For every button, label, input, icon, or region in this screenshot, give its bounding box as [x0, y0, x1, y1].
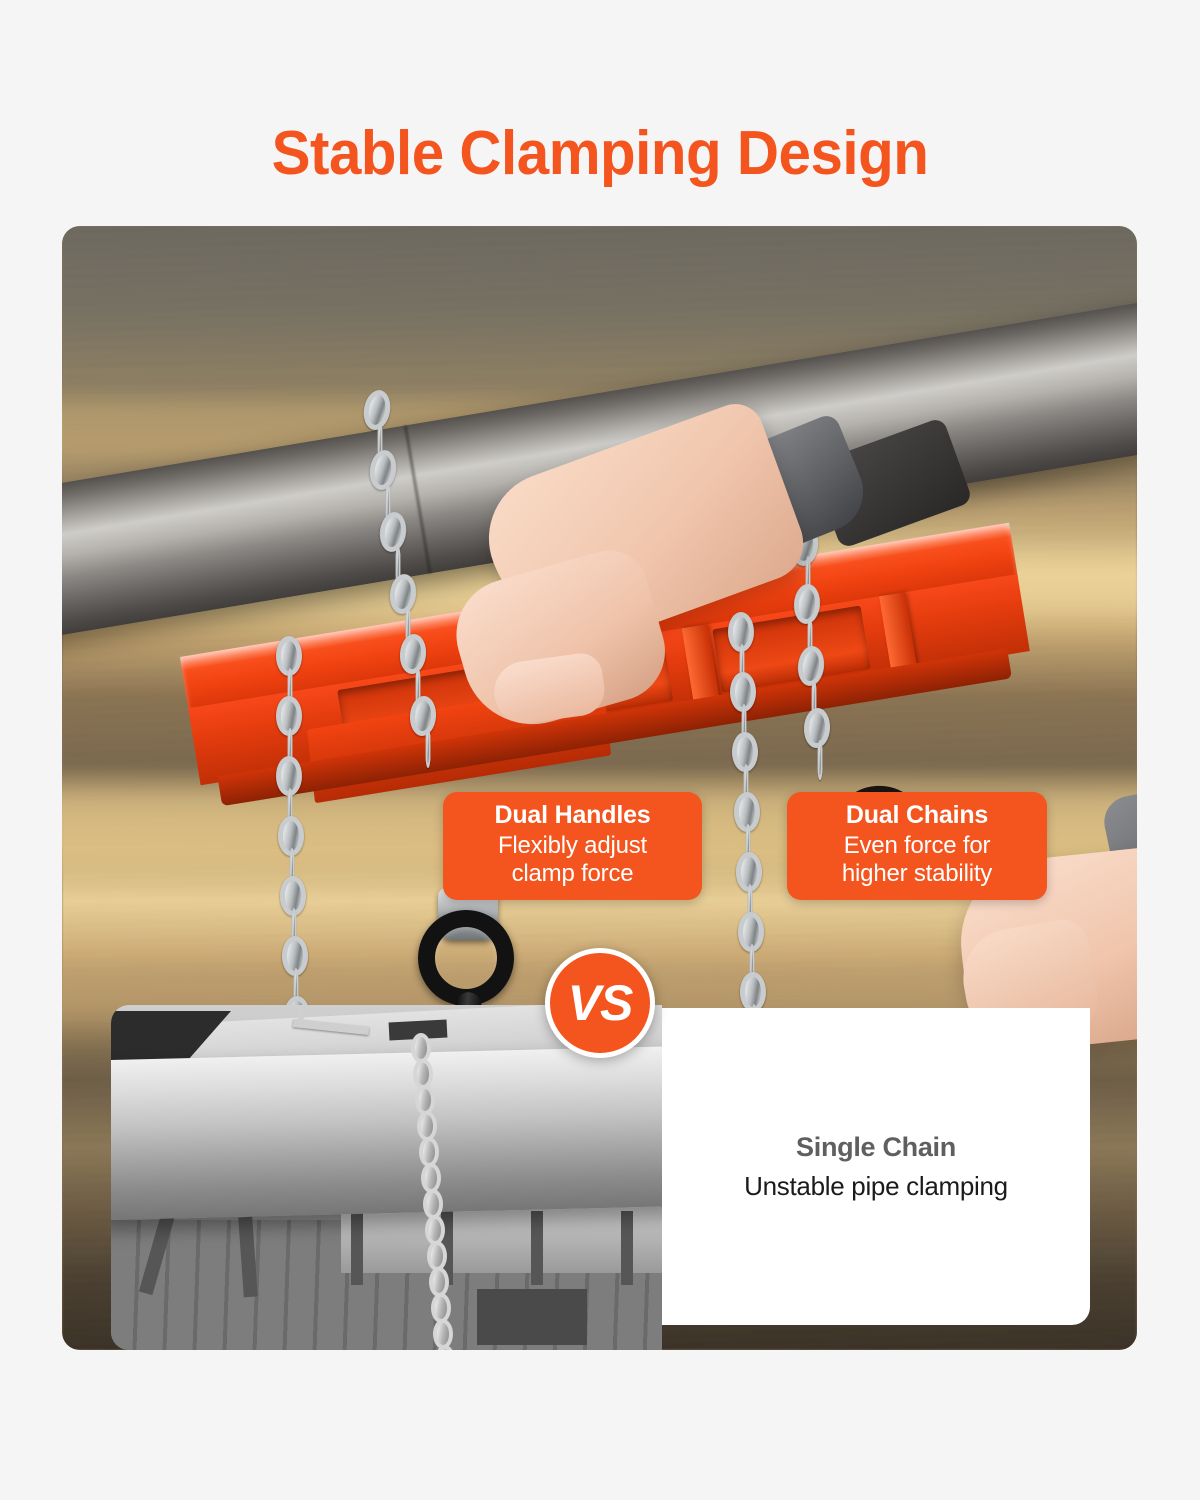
inset-bench-leg — [621, 1211, 633, 1285]
callout-title: Dual Chains — [801, 801, 1033, 831]
product-feature-page: Stable Clamping Design — [0, 0, 1200, 1500]
page-title: Stable Clamping Design — [36, 118, 1164, 189]
inset-bench-leg — [351, 1211, 363, 1285]
caption-title: Single Chain — [796, 1132, 956, 1163]
inset-crate — [477, 1289, 587, 1345]
callout-subtitle-line2: higher stability — [801, 860, 1033, 888]
pipe-seam — [404, 425, 432, 573]
callout-subtitle-line2: clamp force — [457, 860, 688, 888]
vs-label: VS — [568, 974, 633, 1032]
inset-bench-support — [341, 1203, 662, 1273]
inset-bench-leg — [531, 1211, 543, 1285]
comparison-caption-panel: Single Chain Unstable pipe clamping — [662, 1008, 1090, 1325]
caption-subtitle: Unstable pipe clamping — [744, 1171, 1008, 1202]
vs-badge: VS — [545, 948, 655, 1058]
callout-dual-handles: Dual Handles Flexibly adjust clamp force — [443, 792, 702, 900]
callout-subtitle-line1: Even force for — [801, 832, 1033, 860]
comparison-inset-photo — [111, 1005, 662, 1350]
inset-metal-pipe — [111, 1046, 662, 1221]
callout-subtitle-line1: Flexibly adjust — [457, 832, 688, 860]
callout-dual-chains: Dual Chains Even force for higher stabil… — [787, 792, 1047, 900]
callout-title: Dual Handles — [457, 801, 688, 831]
